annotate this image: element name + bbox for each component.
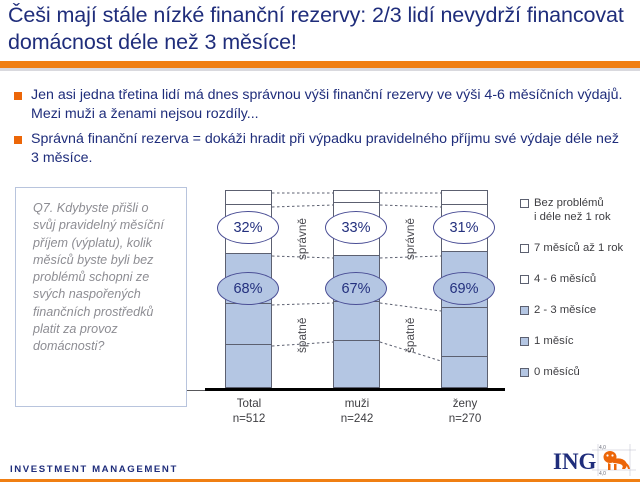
- legend-label: 4 - 6 měsíců: [534, 272, 596, 286]
- legend-label-line: Bez problémů: [534, 197, 604, 209]
- percent-bubble-correct: 32%: [217, 211, 279, 244]
- legend-label-line: i déle než 1 rok: [534, 211, 611, 223]
- bar-segment: [225, 344, 272, 388]
- bullet-item: Správná finanční rezerva = dokáži hradit…: [14, 130, 626, 167]
- legend-swatch-icon: [520, 337, 529, 346]
- square-bullet-icon: [14, 136, 22, 144]
- bar-segment: [441, 356, 488, 388]
- legend-item: 7 měsíců až 1 rok: [520, 241, 638, 255]
- category-name: muži: [345, 397, 369, 410]
- legend-label: 1 měsíc: [534, 334, 574, 348]
- footer-divider-rule: [0, 479, 640, 483]
- bar-segment: [333, 301, 380, 341]
- ing-logo: 4,0 4,0 ING: [552, 442, 636, 478]
- legend-item: Bez problémů i déle než 1 rok: [520, 196, 638, 224]
- legend-item: 4 - 6 měsíců: [520, 272, 638, 286]
- chart-plot-area: správně správně špatně špatně 32% 33% 31…: [205, 188, 505, 393]
- chart-legend: Bez problémů i déle než 1 rok 7 měsíců a…: [520, 196, 638, 396]
- category-name: ženy: [453, 397, 478, 410]
- group-label-spravne: správně: [295, 218, 309, 260]
- legend-swatch-icon: [520, 199, 529, 208]
- bar-segment: [333, 190, 380, 202]
- square-bullet-icon: [14, 92, 22, 100]
- bar-segment: [441, 307, 488, 357]
- percent-bubble-wrong: 67%: [325, 272, 387, 305]
- logo-wordmark: ING: [553, 449, 597, 474]
- percent-bubble-wrong: 68%: [217, 272, 279, 305]
- lion-icon: [604, 451, 631, 470]
- logo-guide-label-top: 4,0: [599, 445, 606, 451]
- group-label-spatne: špatně: [295, 318, 309, 353]
- bar-segment: [225, 190, 272, 204]
- bullet-item: Jen asi jedna třetina lidí má dnes správ…: [14, 86, 626, 123]
- category-label-muzi: muži n=242: [302, 396, 412, 426]
- question-callout-box: Q7. Kdybyste přišli o svůj pravidelný mě…: [15, 187, 187, 407]
- page-title: Češi mají stále nízké finanční rezervy: …: [8, 2, 636, 56]
- title-divider-shadow: [0, 68, 640, 71]
- legend-label: Bez problémů i déle než 1 rok: [534, 196, 611, 224]
- legend-item: 2 - 3 měsíce: [520, 303, 638, 317]
- bar-segment: [333, 340, 380, 388]
- chart-baseline-axis: [205, 388, 505, 391]
- group-label-spatne: špatně: [403, 318, 417, 353]
- bar-segment: [225, 303, 272, 345]
- legend-label: 7 měsíců až 1 rok: [534, 241, 623, 255]
- category-name: Total: [237, 397, 262, 410]
- bullet-text: Správná finanční rezerva = dokáži hradit…: [31, 130, 626, 167]
- question-text: Q7. Kdybyste přišli o svůj pravidelný mě…: [33, 200, 173, 356]
- legend-label: 2 - 3 měsíce: [534, 303, 596, 317]
- legend-swatch-icon: [520, 244, 529, 253]
- percent-bubble-correct: 33%: [325, 211, 387, 244]
- legend-label: 0 měsíců: [534, 365, 580, 379]
- category-sample-size: n=270: [410, 411, 520, 426]
- legend-swatch-icon: [520, 306, 529, 315]
- title-divider-rule: [0, 61, 640, 68]
- stacked-bar-chart: správně správně špatně špatně 32% 33% 31…: [205, 188, 505, 428]
- category-label-zeny: ženy n=270: [410, 396, 520, 426]
- logo-guide-label-bottom: 4,0: [599, 471, 606, 477]
- bar-segment: [441, 190, 488, 204]
- percent-bubble-wrong: 69%: [433, 272, 495, 305]
- percent-bubble-correct: 31%: [433, 211, 495, 244]
- legend-item: 0 měsíců: [520, 365, 638, 379]
- group-label-spravne: správně: [403, 218, 417, 260]
- footer-tagline: INVESTMENT MANAGEMENT: [10, 464, 178, 475]
- legend-item: 1 měsíc: [520, 334, 638, 348]
- category-sample-size: n=512: [194, 411, 304, 426]
- legend-swatch-icon: [520, 368, 529, 377]
- bullet-text: Jen asi jedna třetina lidí má dnes správ…: [31, 86, 626, 123]
- category-label-total: Total n=512: [194, 396, 304, 426]
- bullet-list: Jen asi jedna třetina lidí má dnes správ…: [14, 86, 626, 174]
- category-sample-size: n=242: [302, 411, 412, 426]
- legend-swatch-icon: [520, 275, 529, 284]
